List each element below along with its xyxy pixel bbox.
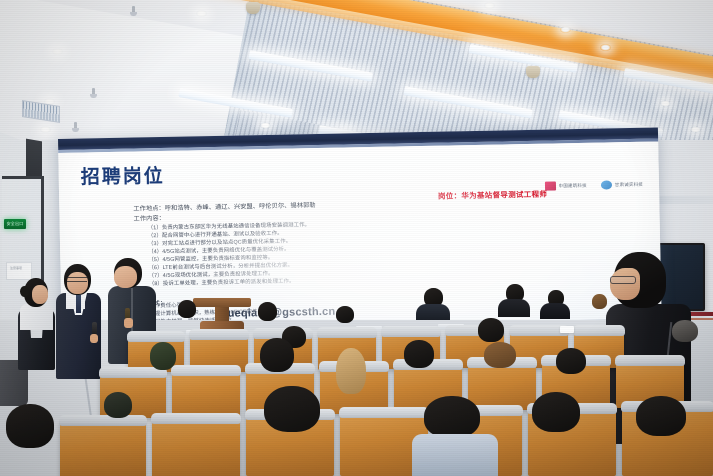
audience-head [478, 318, 504, 342]
presenter-jacket-hand [124, 318, 133, 328]
audience-head [104, 392, 132, 418]
logo-company-2: 甘肃诚实科技 [601, 180, 643, 190]
audience-head [556, 348, 586, 374]
handout-paper[interactable] [560, 326, 574, 333]
auditorium-seat[interactable] [172, 370, 240, 418]
audience-shoulders [416, 304, 450, 320]
sprinkler-head [132, 6, 135, 13]
audience-head [260, 338, 294, 372]
audience-shoulders [540, 303, 570, 319]
audience-head [336, 306, 354, 323]
downlight [196, 10, 207, 17]
audience-head [592, 294, 607, 309]
standing-attendee-glasses-icon [610, 276, 636, 284]
exit-sign-label: 安全出口 [7, 221, 24, 227]
sprinkler-head [92, 88, 95, 95]
presenter-suit-tie [76, 295, 81, 313]
exit-sign: 安全出口 [4, 219, 26, 229]
downlight [52, 48, 63, 55]
wall-notice-text: 注意事项 [10, 266, 22, 270]
lecture-hall-photo: 安全出口 注意事项 招聘岗位 中国建筑科技 甘肃诚实科技 岗 [0, 0, 713, 476]
sprinkler-head [74, 122, 77, 129]
presenter-woman-face [32, 285, 48, 304]
presenter-jacket-face [114, 266, 137, 288]
presenter-suit-face [67, 272, 88, 294]
presenter-woman-shirt [20, 304, 53, 330]
company-1-name: 中国建筑科技 [559, 183, 587, 189]
audience-head [424, 396, 480, 438]
audience-shoulders [412, 434, 498, 476]
audience-head [150, 342, 176, 370]
downlight [600, 44, 611, 51]
downlight [690, 126, 701, 133]
downlight [560, 26, 571, 33]
ceiling-speaker [246, 2, 260, 14]
audience-head [258, 302, 277, 321]
downlight [260, 122, 271, 129]
standing-attendee-face [610, 268, 640, 300]
logo-company-1: 中国建筑科技 [545, 181, 587, 191]
company-2-name: 甘肃诚实科技 [615, 181, 643, 187]
audience-head [6, 404, 54, 448]
audience-shoulders [498, 299, 530, 317]
downlight [660, 100, 671, 107]
audience-head [484, 342, 516, 368]
auditorium-seat[interactable] [468, 362, 536, 410]
downlight [40, 126, 51, 133]
slide-title: 招聘岗位 [81, 161, 165, 189]
presenter-suit-hand [90, 334, 98, 343]
auditorium-seat[interactable] [60, 420, 146, 476]
audience-head [404, 340, 434, 368]
ceiling-speaker [526, 66, 540, 78]
wall-notice-sheet: 注意事项 [6, 262, 32, 280]
slide-logos: 中国建筑科技 甘肃诚实科技 [545, 180, 644, 191]
audience-head [636, 396, 686, 436]
audience-head [336, 348, 366, 394]
podium-top [193, 298, 251, 307]
audience-head [264, 386, 320, 432]
audience-head [532, 392, 580, 432]
downlight [484, 2, 495, 9]
company-2-mark-icon [601, 180, 612, 189]
presenter-woman-hair-bun [20, 286, 29, 297]
audience-head [672, 320, 698, 342]
auditorium-seat[interactable] [152, 418, 240, 476]
presenter-suit-glasses-icon [67, 277, 87, 282]
audience-head [178, 300, 196, 318]
